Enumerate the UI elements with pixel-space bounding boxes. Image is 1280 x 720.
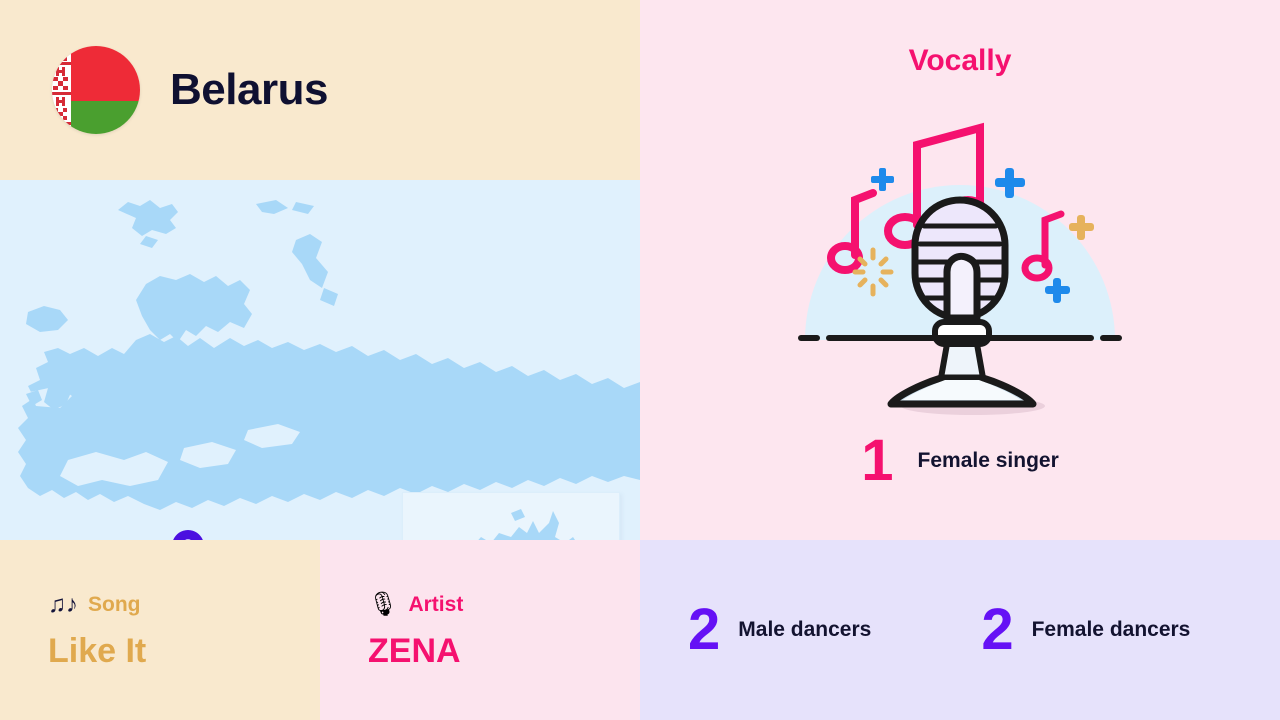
- artist-header: 🎙 Artist: [368, 590, 463, 620]
- artist-content: 🎙 Artist ZENA: [368, 590, 463, 671]
- belarus-flag-icon: [52, 46, 140, 134]
- female-singer-stat: 1 Female singer: [640, 432, 1280, 490]
- female-singer-label: Female singer: [918, 449, 1059, 473]
- retro-microphone-icon: [795, 100, 1125, 420]
- song-content: ♫♪ Song Like It: [48, 590, 146, 671]
- female-dancers-stat: 2 Female dancers: [981, 601, 1190, 659]
- song-panel: ♫♪ Song Like It: [0, 540, 320, 720]
- vocally-title: Vocally: [640, 44, 1280, 78]
- female-singer-count: 1: [861, 432, 893, 490]
- eurovision-country-card: Belarus: [0, 0, 1280, 720]
- music-notes-icon: ♫♪: [48, 593, 78, 617]
- country-name: Belarus: [170, 65, 328, 115]
- flag-ornament-band: [52, 46, 70, 134]
- artist-name: ZENA: [368, 632, 463, 671]
- location-pin-icon[interactable]: [172, 530, 204, 540]
- female-dancers-count: 2: [981, 601, 1013, 659]
- plus-sparkle-icon: [871, 168, 894, 191]
- world-map: [0, 180, 640, 540]
- song-kicker-label: Song: [88, 593, 141, 617]
- map-panel: [0, 180, 640, 540]
- australia-map: [403, 493, 619, 540]
- vocally-panel: Vocally: [640, 0, 1280, 540]
- male-dancers-count: 2: [688, 601, 720, 659]
- artist-kicker-label: Artist: [408, 593, 463, 617]
- microphone-illustration: [795, 100, 1125, 420]
- male-dancers-stat: 2 Male dancers: [688, 601, 871, 659]
- australia-inset-box: [402, 492, 620, 540]
- male-dancers-label: Male dancers: [738, 618, 871, 642]
- dancers-panel: 2 Male dancers 2 Female dancers: [640, 540, 1280, 720]
- country-header-panel: Belarus: [0, 0, 640, 180]
- artist-panel: 🎙 Artist ZENA: [320, 540, 640, 720]
- female-dancers-label: Female dancers: [1032, 618, 1191, 642]
- song-header: ♫♪ Song: [48, 590, 146, 620]
- song-title: Like It: [48, 632, 146, 671]
- ornament-pattern-icon: [52, 46, 71, 134]
- studio-microphone-icon: 🎙: [368, 593, 398, 617]
